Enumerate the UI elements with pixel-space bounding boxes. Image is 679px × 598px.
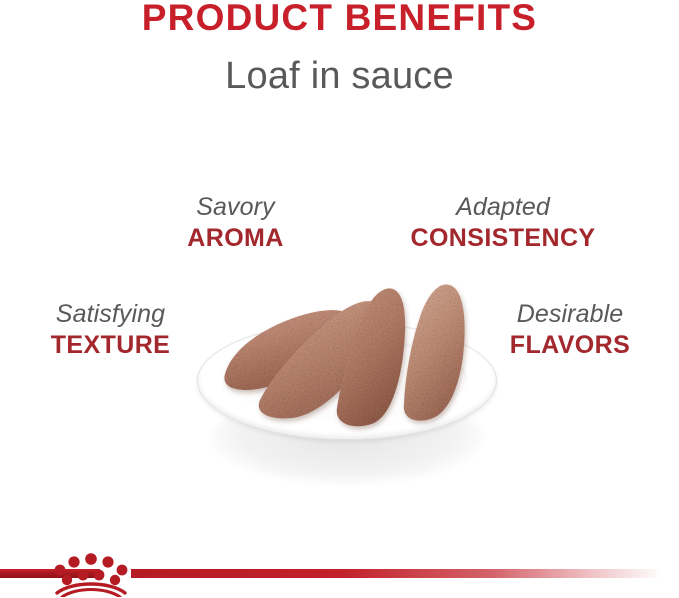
benefit-texture: Satisfying TEXTURE <box>8 300 213 360</box>
benefit-aroma: Savory AROMA <box>128 193 343 253</box>
loaf-piece-4 <box>404 284 465 420</box>
benefit-flavors: Desirable FLAVORS <box>470 300 670 360</box>
benefit-consistency-noun: CONSISTENCY <box>388 224 618 253</box>
page-title: PRODUCT BENEFITS <box>0 0 679 38</box>
benefit-texture-noun: TEXTURE <box>8 331 213 360</box>
benefit-aroma-noun: AROMA <box>128 224 343 253</box>
loaf-pieces <box>197 268 497 440</box>
benefit-flavors-noun: FLAVORS <box>470 331 670 360</box>
royal-canin-crown-icon <box>50 549 132 597</box>
header: PRODUCT BENEFITS Loaf in sauce <box>0 0 679 100</box>
benefit-consistency-adjective: Adapted <box>388 193 618 222</box>
product-image <box>197 268 497 440</box>
footer-brand-bar <box>0 548 679 598</box>
infographic-canvas: PRODUCT BENEFITS Loaf in sauce Savory AR… <box>0 0 679 598</box>
benefit-aroma-adjective: Savory <box>128 193 343 222</box>
rule-right <box>131 569 679 578</box>
benefit-texture-adjective: Satisfying <box>8 300 213 329</box>
page-subtitle: Loaf in sauce <box>0 52 679 100</box>
benefit-flavors-adjective: Desirable <box>470 300 670 329</box>
benefit-consistency: Adapted CONSISTENCY <box>388 193 618 253</box>
